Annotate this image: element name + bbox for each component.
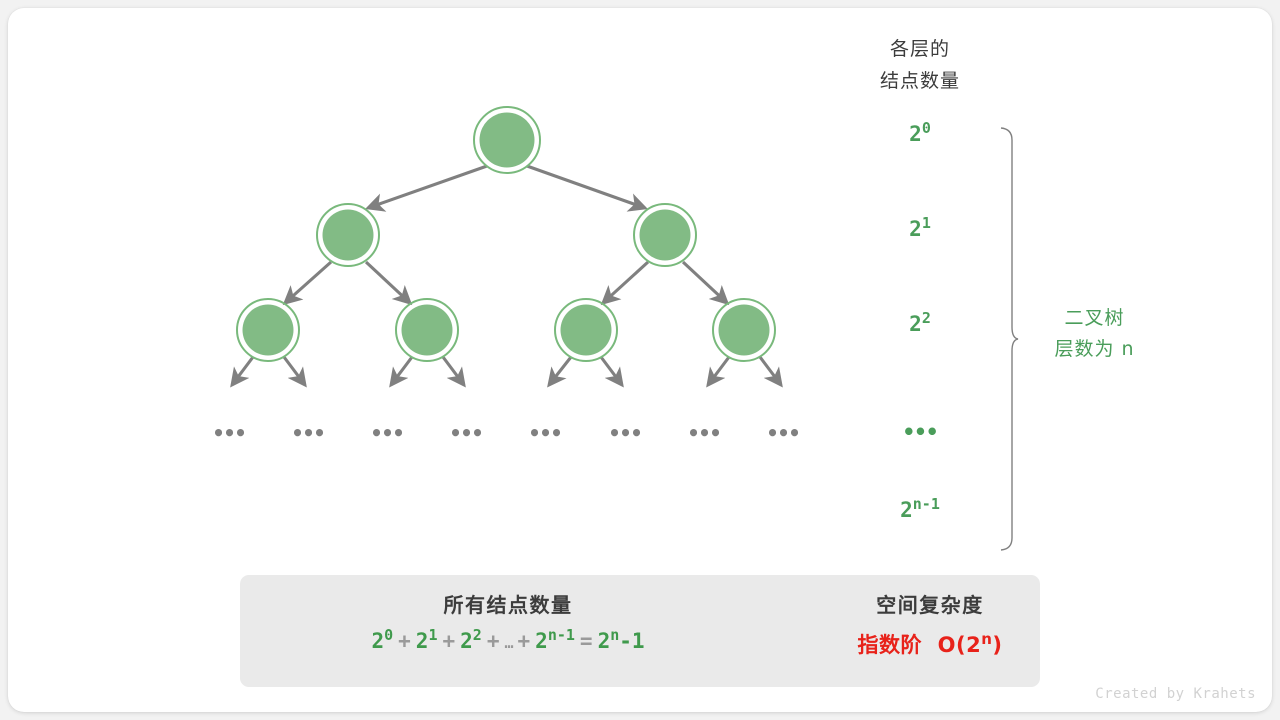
leaf-ellipsis: ••• [687, 421, 720, 445]
level-count-last-exp: n-1 [913, 495, 940, 513]
brace-note-line2: 层数为 n [1022, 334, 1167, 365]
level-count-last-base: 2 [900, 498, 913, 522]
column-header-line2: 结点数量 [840, 65, 1000, 97]
level-count-2: 22 [840, 312, 1000, 336]
brace-note-line1: 二叉树 [1022, 303, 1167, 334]
level-count-last: 2n-1 [840, 498, 1000, 522]
leaf-ellipsis: ••• [766, 421, 799, 445]
summary-right-title: 空间复杂度 [830, 590, 1030, 620]
formula-term-2: 22 [460, 629, 482, 653]
summary-right: 空间复杂度 指数阶 O(2n) [830, 590, 1030, 659]
leaf-ellipsis: ••• [291, 421, 324, 445]
leaf-ellipsis: ••• [528, 421, 561, 445]
formula-term-1: 21 [416, 629, 438, 653]
level-count-2-exp: 2 [922, 309, 931, 327]
credit-text: Created by Krahets [1095, 686, 1256, 702]
level-count-1-exp: 1 [922, 214, 931, 232]
space-complexity-value: 指数阶 O(2n) [830, 629, 1030, 659]
level-count-0-base: 2 [909, 122, 922, 146]
formula-plus: + [393, 629, 416, 653]
formula-term-0: 20 [371, 629, 393, 653]
formula-plus: + [482, 629, 505, 653]
complexity-exp: n [981, 630, 992, 648]
leaf-ellipsis: ••• [449, 421, 482, 445]
brace-note: 二叉树 层数为 n [1022, 303, 1167, 365]
complexity-suffix: ) [992, 633, 1002, 657]
formula-ellipsis: … [504, 634, 512, 652]
leaf-ellipsis: ••• [608, 421, 641, 445]
level-count-2-base: 2 [909, 312, 922, 336]
column-header: 各层的 结点数量 [840, 33, 1000, 97]
level-count-0: 20 [840, 122, 1000, 146]
formula-plus: + [437, 629, 460, 653]
complexity-notation: O(2 [938, 633, 982, 657]
complexity-order-label: 指数阶 [858, 633, 923, 657]
leaf-ellipsis: ••• [370, 421, 403, 445]
level-count-ellipsis: ••• [840, 420, 1000, 444]
formula-equals: = [575, 629, 598, 653]
leaf-ellipsis: ••• [212, 421, 245, 445]
level-count-1: 21 [840, 217, 1000, 241]
figure-root: 各层的 结点数量 20 21 22 ••• 2n-1 二叉树 层数为 n •••… [0, 0, 1280, 720]
formula-plus: + [513, 629, 536, 653]
total-nodes-formula: 20+21+22+…+2n-1=2n-1 [258, 629, 758, 653]
level-count-1-base: 2 [909, 217, 922, 241]
level-count-0-exp: 0 [922, 119, 931, 137]
summary-left-title: 所有结点数量 [258, 590, 758, 620]
column-header-line1: 各层的 [840, 33, 1000, 65]
summary-left: 所有结点数量 20+21+22+…+2n-1=2n-1 [258, 590, 758, 653]
formula-last-term: 2n-1 [535, 629, 575, 653]
formula-result: 2n-1 [598, 629, 645, 653]
